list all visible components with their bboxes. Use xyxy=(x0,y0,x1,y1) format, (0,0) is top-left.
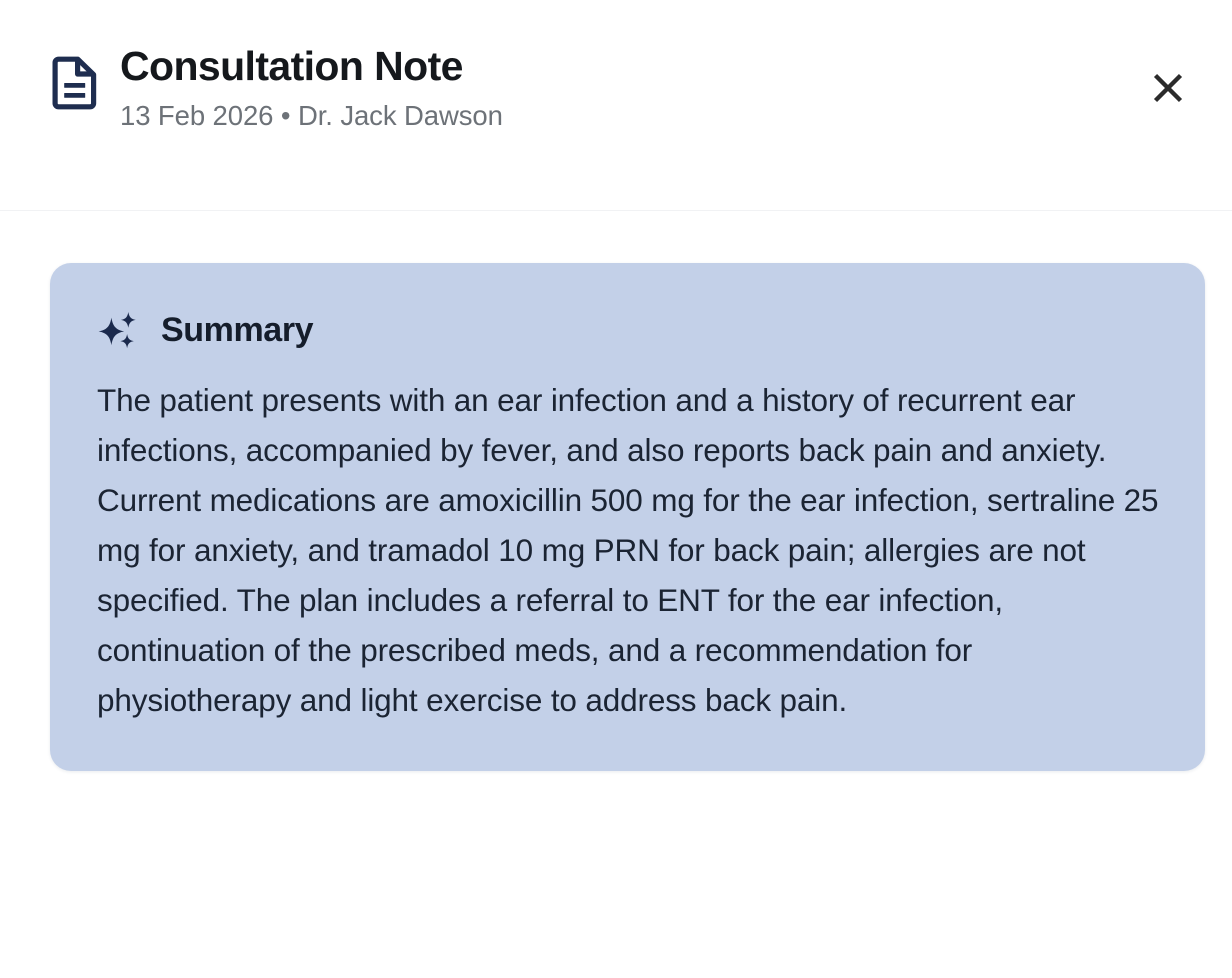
close-icon xyxy=(1146,66,1190,110)
header-title-block: Consultation Note 13 Feb 2026 • Dr. Jack… xyxy=(120,44,1140,132)
sparkles-icon xyxy=(97,309,141,353)
page-title: Consultation Note xyxy=(120,44,1140,90)
summary-card: Summary The patient presents with an ear… xyxy=(50,263,1205,771)
summary-header: Summary xyxy=(97,307,1159,353)
note-meta: 13 Feb 2026 • Dr. Jack Dawson xyxy=(120,99,1140,132)
summary-body-text: The patient presents with an ear infecti… xyxy=(97,375,1159,725)
document-icon xyxy=(52,56,98,110)
consultation-note-modal: Consultation Note 13 Feb 2026 • Dr. Jack… xyxy=(0,0,1232,978)
modal-header: Consultation Note 13 Feb 2026 • Dr. Jack… xyxy=(0,0,1232,211)
summary-heading: Summary xyxy=(161,313,313,347)
modal-body: Summary The patient presents with an ear… xyxy=(0,211,1232,771)
close-button[interactable] xyxy=(1140,60,1196,116)
